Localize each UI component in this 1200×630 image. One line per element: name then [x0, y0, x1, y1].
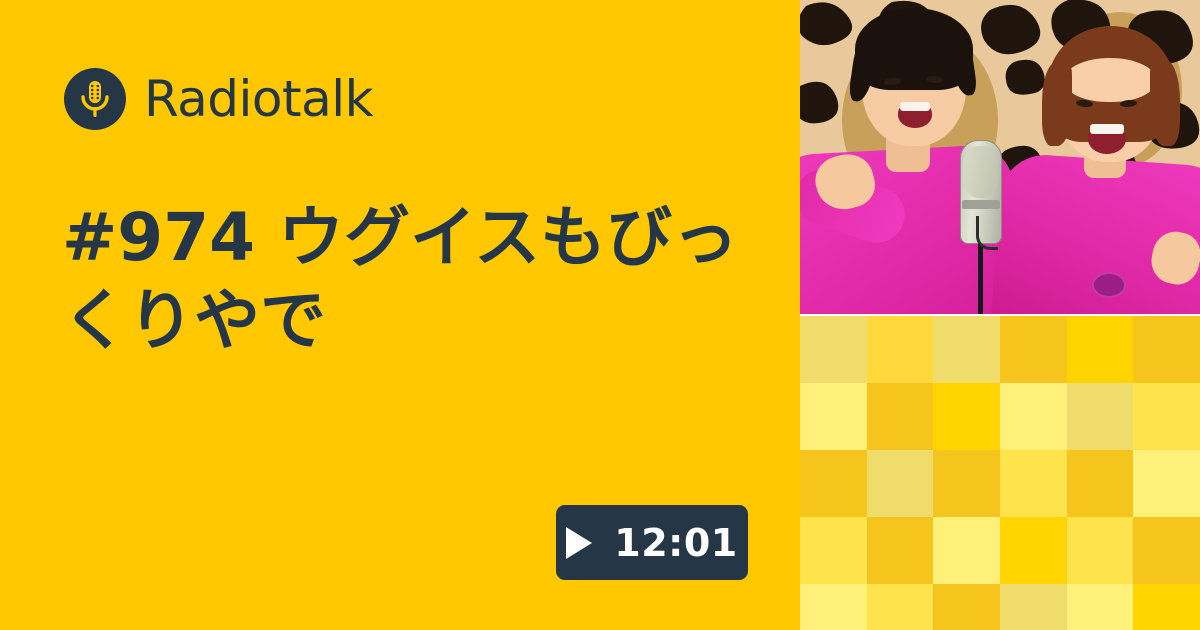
performer-right-shirt-badge: [1092, 272, 1126, 298]
mosaic-tile: [867, 517, 934, 584]
performer-left-teeth: [900, 102, 930, 111]
duration-badge[interactable]: 12:01: [556, 505, 748, 580]
duration-text: 12:01: [614, 524, 737, 562]
mosaic-pattern: [800, 316, 1200, 630]
mosaic-tile: [1133, 316, 1200, 383]
play-triangle-icon: [566, 527, 592, 559]
mosaic-tile: [1067, 517, 1134, 584]
microphone-icon: [64, 68, 126, 130]
mosaic-tile: [800, 450, 867, 517]
mosaic-tile: [867, 316, 934, 383]
mosaic-tile: [1133, 450, 1200, 517]
mosaic-tile: [1067, 383, 1134, 450]
mosaic-tile: [800, 383, 867, 450]
mosaic-tile: [933, 450, 1000, 517]
mosaic-tile: [933, 383, 1000, 450]
mosaic-tile: [1000, 383, 1067, 450]
mosaic-tile: [933, 316, 1000, 383]
mosaic-tile: [867, 584, 934, 630]
microphone-label: [962, 200, 1000, 209]
mosaic-tile: [1000, 450, 1067, 517]
mosaic-tile: [1133, 517, 1200, 584]
radiotalk-episode-card: { "theme": { "background": "#FFC800", "i…: [0, 0, 1200, 630]
mosaic-tile: [800, 316, 867, 383]
mosaic-tile: [1067, 584, 1134, 630]
episode-title: #974 ウグイスもびっくりやで: [62, 196, 762, 362]
mosaic-tile: [1000, 517, 1067, 584]
card-right-panel: [800, 0, 1200, 630]
card-left-panel: Radiotalk #974 ウグイスもびっくりやで 12:01: [0, 0, 800, 630]
microphone-cable: [976, 216, 998, 250]
mosaic-tile: [867, 450, 934, 517]
performer-right-hair-side-left: [1042, 62, 1072, 146]
mosaic-tile: [1067, 450, 1134, 517]
mosaic-tile: [800, 584, 867, 630]
mosaic-tile: [1067, 316, 1134, 383]
mosaic-tile: [1133, 584, 1200, 630]
mosaic-tile: [933, 517, 1000, 584]
performer-right-hair-side-right: [1150, 60, 1180, 146]
performer-right-teeth: [1090, 124, 1124, 134]
mosaic-tile: [867, 383, 934, 450]
mosaic-tile: [1000, 584, 1067, 630]
brand-name: Radiotalk: [144, 74, 373, 124]
mosaic-tile: [933, 584, 1000, 630]
performer-right-forehead: [1064, 58, 1156, 102]
mosaic-tile: [1000, 316, 1067, 383]
mosaic-tile: [1133, 383, 1200, 450]
episode-cover-photo: [800, 0, 1200, 314]
brand-logo[interactable]: Radiotalk: [64, 68, 373, 130]
mosaic-tile: [800, 517, 867, 584]
microphone-grille: [964, 146, 998, 198]
